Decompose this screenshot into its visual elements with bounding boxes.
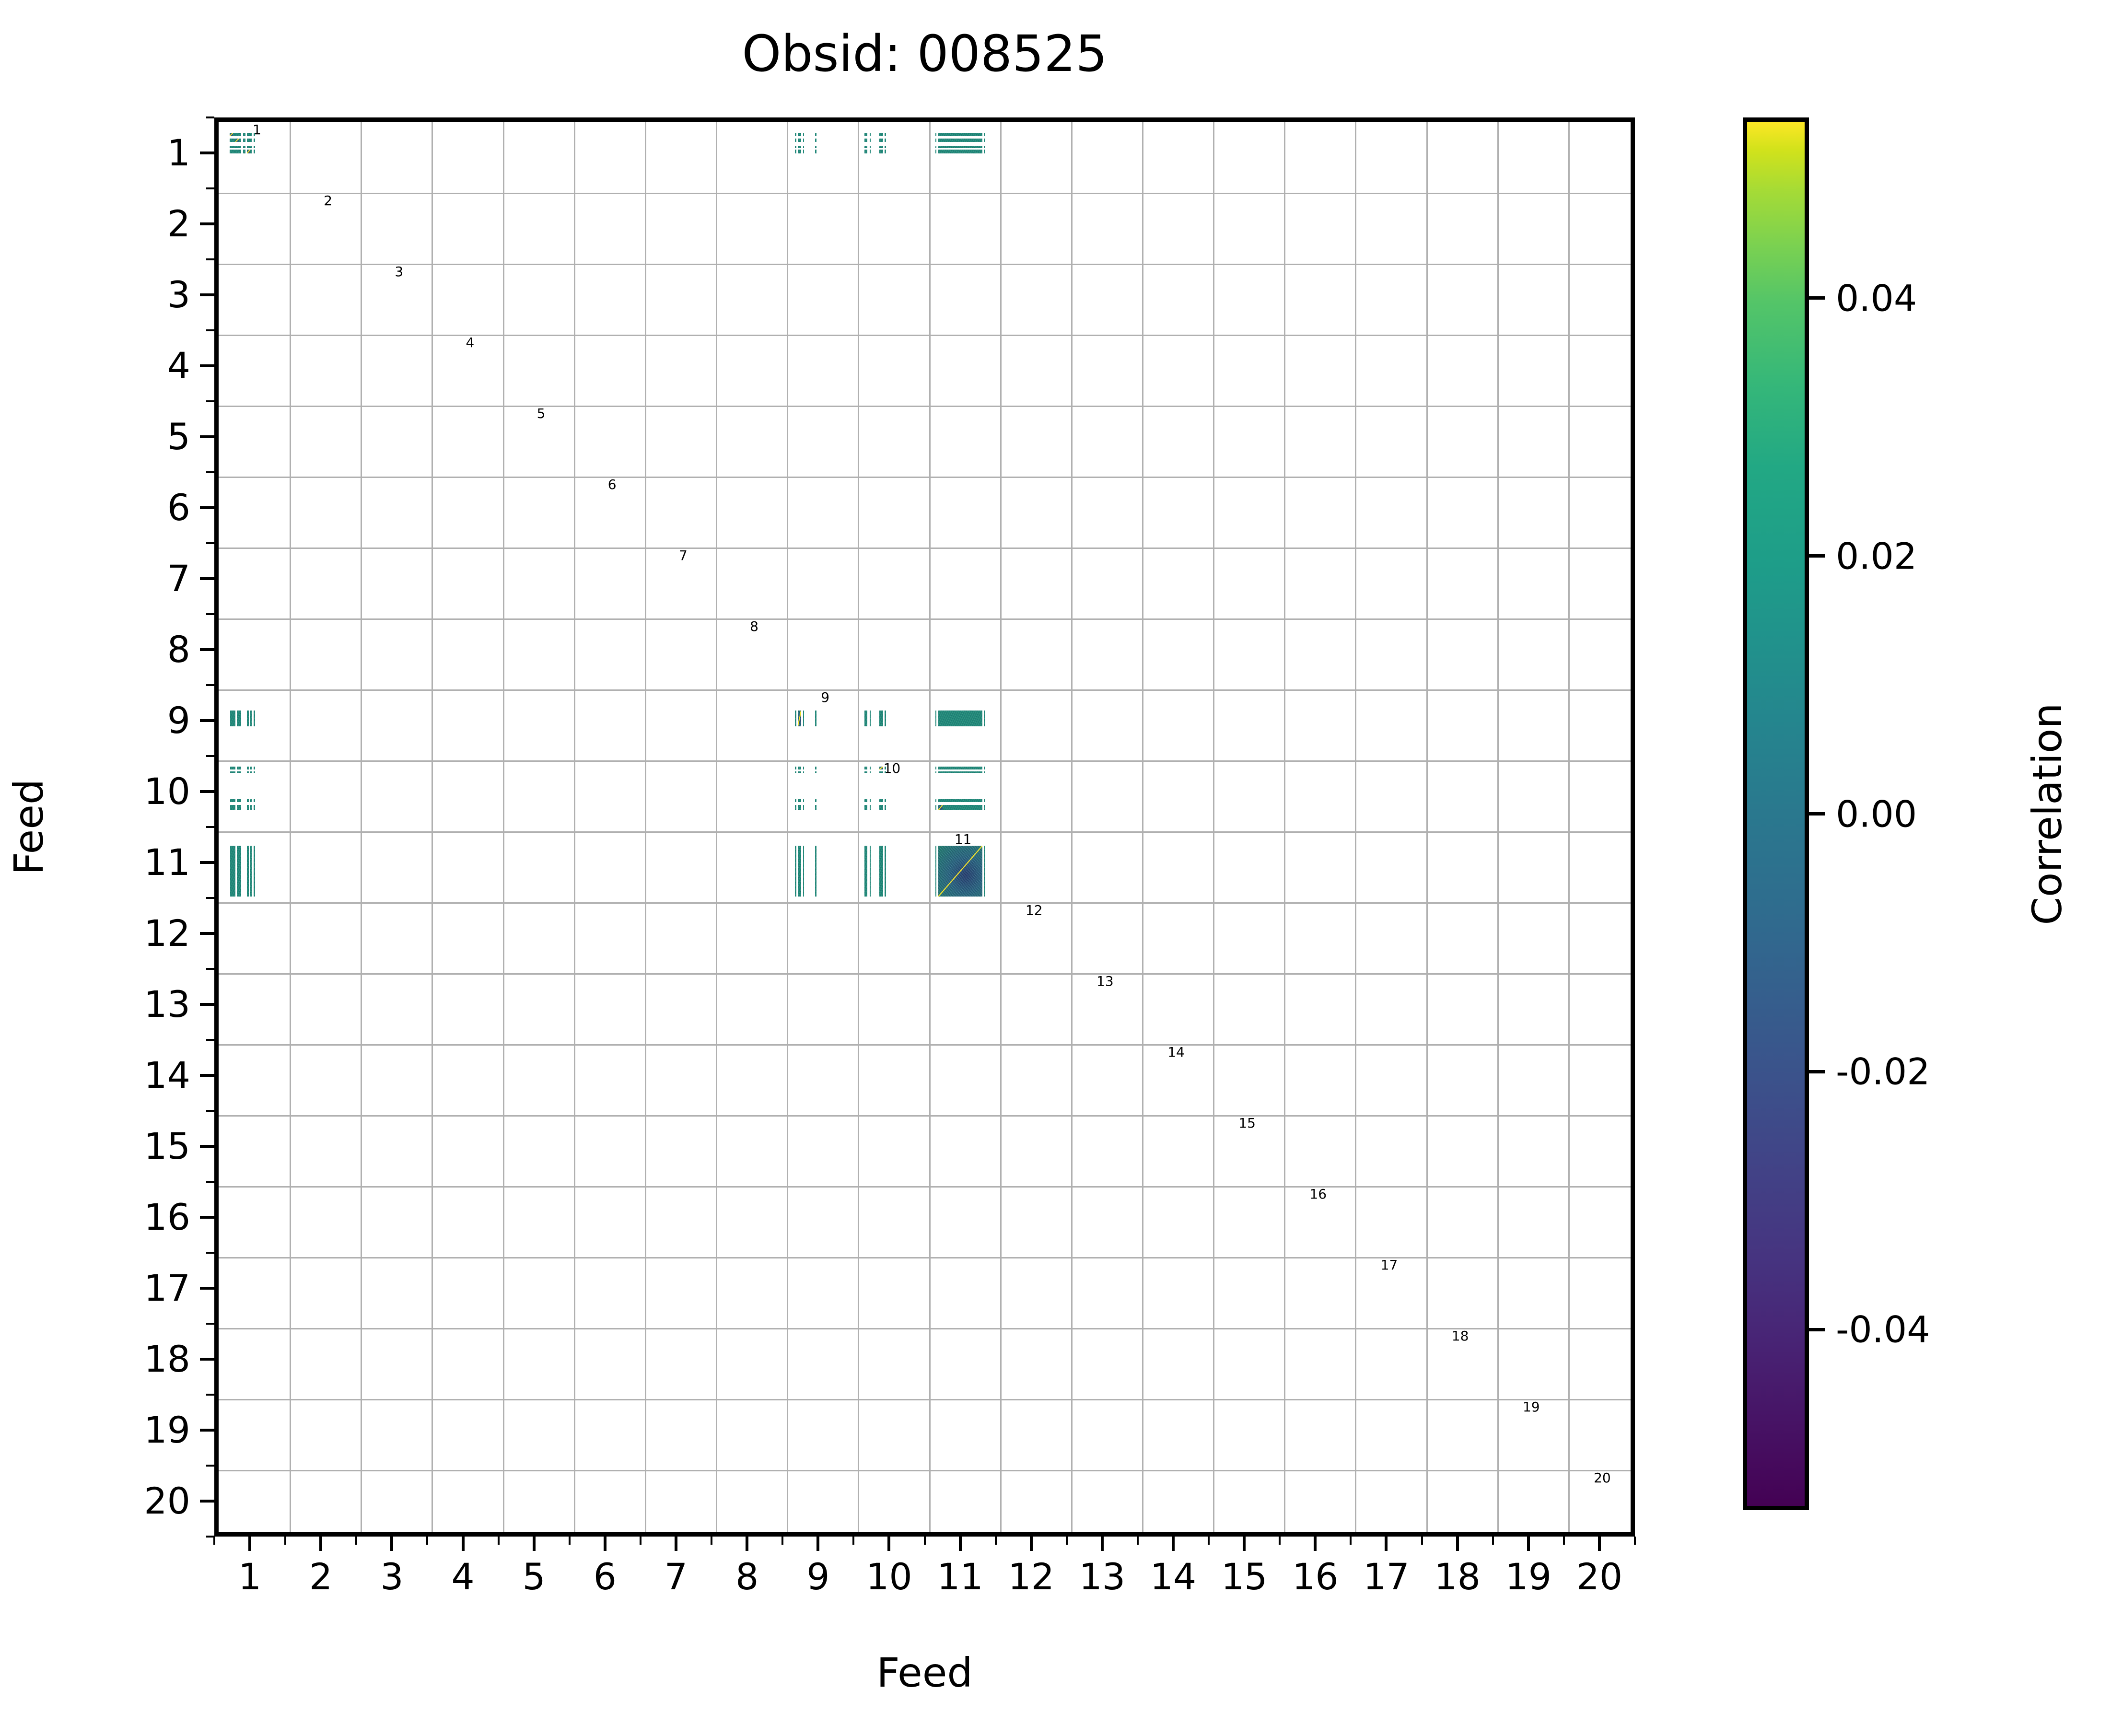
x-tick-mark bbox=[604, 1537, 606, 1551]
x-tick-mark bbox=[248, 1537, 251, 1551]
heatmap-cell-patch bbox=[864, 805, 867, 810]
y-minor-tick-mark bbox=[206, 1465, 214, 1467]
heatmap-cell-patch bbox=[935, 711, 937, 726]
heatmap-cell-patch bbox=[798, 771, 801, 773]
heatmap-cell-patch bbox=[870, 846, 871, 897]
x-tick-mark bbox=[1385, 1537, 1388, 1551]
y-minor-tick-mark bbox=[206, 1039, 214, 1041]
heatmap-cell-patch bbox=[879, 799, 883, 802]
diagonal-block-label: 10 bbox=[884, 762, 901, 775]
heatmap-cell-patch bbox=[815, 150, 816, 153]
y-tick-mark bbox=[200, 861, 214, 864]
heatmap-cell-patch bbox=[803, 133, 805, 136]
grid-line-horizontal bbox=[219, 1044, 1631, 1046]
heatmap-cell-patch bbox=[230, 146, 233, 148]
diagonal-block-label: 15 bbox=[1238, 1117, 1256, 1130]
heatmap-cell-patch bbox=[237, 771, 241, 773]
grid-line-vertical bbox=[1568, 122, 1570, 1532]
heatmap-cell-patch bbox=[885, 767, 886, 769]
heatmap-cell-patch bbox=[247, 146, 250, 148]
y-minor-tick-mark bbox=[206, 258, 214, 260]
colorbar-tick-mark bbox=[1809, 296, 1825, 300]
diagonal-block-label: 4 bbox=[466, 336, 475, 350]
y-tick-mark bbox=[200, 932, 214, 935]
heatmap-cell-patch bbox=[250, 150, 252, 153]
y-tick-label: 5 bbox=[109, 419, 190, 455]
y-minor-tick-mark bbox=[206, 117, 214, 118]
heatmap-cell-patch bbox=[254, 771, 255, 773]
heatmap-cell-patch bbox=[935, 805, 937, 810]
heatmap-cell-patch bbox=[254, 139, 255, 142]
heatmap-cell-patch bbox=[254, 133, 255, 136]
heatmap-cell-patch bbox=[938, 799, 982, 802]
heatmap-cell-patch bbox=[250, 799, 252, 802]
colorbar-tick-label: 0.00 bbox=[1836, 792, 1917, 835]
heatmap-cell-patch bbox=[250, 133, 252, 136]
y-tick-label: 8 bbox=[109, 631, 190, 668]
heatmap-cell-patch bbox=[885, 799, 886, 802]
grid-line-vertical bbox=[929, 122, 931, 1532]
x-tick-label: 19 bbox=[1505, 1559, 1551, 1595]
heatmap-cell-patch bbox=[815, 146, 816, 148]
x-tick-mark bbox=[533, 1537, 536, 1551]
heatmap-cell-patch bbox=[254, 767, 255, 769]
heatmap-cell-patch bbox=[250, 771, 252, 773]
y-tick-label: 3 bbox=[109, 277, 190, 313]
heatmap-cell-patch bbox=[938, 139, 982, 142]
heatmap-cell-patch bbox=[798, 805, 801, 810]
grid-line-vertical bbox=[645, 122, 646, 1532]
grid-line-vertical bbox=[290, 122, 291, 1532]
grid-line-vertical bbox=[1142, 122, 1143, 1532]
heatmap-cell-patch bbox=[815, 846, 816, 897]
grid-line-horizontal bbox=[219, 1257, 1631, 1258]
heatmap-cell-patch bbox=[984, 846, 985, 897]
colorbar-label: Correlation bbox=[2024, 703, 2071, 925]
heatmap-cell-patch bbox=[815, 771, 816, 773]
y-minor-tick-mark bbox=[206, 1394, 214, 1396]
y-minor-tick-mark bbox=[206, 187, 214, 189]
y-minor-tick-mark bbox=[206, 1181, 214, 1183]
heatmap-cell-patch bbox=[250, 711, 252, 726]
x-tick-label: 4 bbox=[451, 1559, 474, 1595]
heatmap-cell-patch bbox=[237, 799, 241, 802]
grid-line-horizontal bbox=[219, 1115, 1631, 1117]
heatmap-cell-patch bbox=[864, 150, 867, 153]
heatmap-cell-patch bbox=[870, 767, 871, 769]
diagonal-block-label: 6 bbox=[608, 478, 617, 491]
x-minor-tick-mark bbox=[995, 1537, 997, 1545]
y-tick-mark bbox=[200, 1287, 214, 1290]
heatmap-cell-patch bbox=[935, 846, 937, 897]
colorbar-tick-label: -0.02 bbox=[1836, 1050, 1930, 1093]
autocorrelation-diagonal-block bbox=[235, 139, 239, 142]
heatmap-cell-patch bbox=[935, 799, 937, 802]
y-tick-mark bbox=[200, 364, 214, 367]
x-minor-tick-mark bbox=[1563, 1537, 1565, 1545]
heatmap-cell-patch bbox=[795, 771, 796, 773]
y-axis-label: Feed bbox=[5, 779, 52, 875]
y-tick-mark bbox=[200, 1216, 214, 1219]
heatmap-cell-patch bbox=[870, 805, 871, 810]
heatmap-cell-patch bbox=[879, 133, 883, 136]
heatmap-cell-patch bbox=[879, 771, 883, 773]
y-tick-mark bbox=[200, 1358, 214, 1361]
heatmap-cell-patch bbox=[938, 133, 982, 136]
y-minor-tick-mark bbox=[206, 826, 214, 828]
x-minor-tick-mark bbox=[1350, 1537, 1352, 1545]
x-tick-mark bbox=[1527, 1537, 1530, 1551]
diagonal-block-label: 7 bbox=[679, 549, 688, 562]
y-tick-label: 4 bbox=[109, 348, 190, 384]
x-tick-mark bbox=[1030, 1537, 1033, 1551]
heatmap-cell-patch bbox=[815, 139, 816, 142]
x-tick-label: 3 bbox=[380, 1559, 403, 1595]
x-tick-mark bbox=[887, 1537, 890, 1551]
heatmap-cell-patch bbox=[984, 146, 985, 148]
heatmap-cell-patch bbox=[803, 767, 805, 769]
grid-line-vertical bbox=[1497, 122, 1499, 1532]
heatmap-cell-patch bbox=[237, 846, 241, 897]
y-tick-label: 19 bbox=[109, 1412, 190, 1448]
diagonal-block-label: 9 bbox=[821, 691, 829, 704]
heatmap-cell-patch bbox=[230, 767, 235, 769]
heatmap-cell-patch bbox=[247, 133, 250, 136]
diagonal-block-label: 13 bbox=[1096, 975, 1114, 988]
diagonal-block-label: 12 bbox=[1026, 904, 1043, 917]
heatmap-cell-patch bbox=[798, 139, 801, 142]
grid-line-vertical bbox=[574, 122, 575, 1532]
colorbar-tick-mark bbox=[1809, 554, 1825, 558]
x-tick-label: 8 bbox=[735, 1559, 758, 1595]
heatmap-cell-patch bbox=[864, 139, 867, 142]
heatmap-cell-patch bbox=[237, 805, 241, 810]
y-minor-tick-mark bbox=[206, 755, 214, 757]
x-minor-tick-mark bbox=[284, 1537, 286, 1545]
autocorrelation-diagonal-block bbox=[938, 805, 943, 810]
x-tick-mark bbox=[1172, 1537, 1175, 1551]
heatmap-cell-patch bbox=[815, 133, 816, 136]
x-tick-mark bbox=[390, 1537, 393, 1551]
diagonal-block-label: 14 bbox=[1167, 1046, 1185, 1059]
y-tick-mark bbox=[200, 435, 214, 438]
grid-line-vertical bbox=[432, 122, 433, 1532]
heatmap-cell-patch bbox=[870, 150, 871, 153]
grid-line-vertical bbox=[1000, 122, 1002, 1532]
heatmap-cell-patch bbox=[230, 799, 235, 802]
x-tick-mark bbox=[1243, 1537, 1246, 1551]
grid-line-horizontal bbox=[219, 689, 1631, 691]
grid-line-horizontal bbox=[219, 831, 1631, 833]
heatmap-cell-patch bbox=[254, 146, 255, 148]
grid-line-vertical bbox=[1071, 122, 1073, 1532]
grid-line-horizontal bbox=[219, 760, 1631, 762]
x-tick-label: 17 bbox=[1363, 1559, 1410, 1595]
diagonal-block-label: 2 bbox=[324, 194, 332, 208]
grid-line-horizontal bbox=[219, 973, 1631, 975]
heatmap-cell-patch bbox=[864, 771, 867, 773]
heatmap-cell-patch bbox=[798, 133, 801, 136]
heatmap-cell-patch bbox=[235, 133, 239, 136]
heatmap-cell-patch bbox=[938, 805, 982, 810]
autocorrelation-diagonal-block bbox=[230, 133, 233, 136]
y-minor-tick-mark bbox=[206, 329, 214, 331]
heatmap-cell-patch bbox=[879, 150, 883, 153]
correlation-matrix-figure: Obsid: 008525 12345678910111213141516171… bbox=[0, 0, 2111, 1736]
diagonal-block-label: 20 bbox=[1594, 1471, 1611, 1485]
x-minor-tick-mark bbox=[1066, 1537, 1068, 1545]
heatmap-cell-patch bbox=[935, 771, 937, 773]
heatmap-cell-patch bbox=[879, 711, 883, 726]
heatmap-cell-patch bbox=[870, 771, 871, 773]
y-tick-mark bbox=[200, 1429, 214, 1432]
autocorrelation-diagonal-block bbox=[879, 767, 883, 769]
y-tick-label: 13 bbox=[109, 986, 190, 1023]
y-minor-tick-mark bbox=[206, 1252, 214, 1254]
diagonal-block-label: 16 bbox=[1309, 1188, 1327, 1201]
heatmap-cell-patch bbox=[795, 146, 796, 148]
x-minor-tick-mark bbox=[640, 1537, 641, 1545]
heatmap-cell-patch bbox=[250, 805, 252, 810]
heatmap-cell-patch bbox=[803, 146, 805, 148]
heatmap-cell-patch bbox=[254, 805, 255, 810]
heatmap-cell-patch bbox=[803, 711, 805, 726]
y-tick-label: 10 bbox=[109, 773, 190, 810]
y-minor-tick-mark bbox=[206, 968, 214, 970]
heatmap-cell-patch bbox=[935, 139, 937, 142]
heatmap-cell-patch bbox=[864, 799, 867, 802]
heatmap-cell-patch bbox=[230, 805, 235, 810]
y-minor-tick-mark bbox=[206, 613, 214, 615]
heatmap-cell-patch bbox=[885, 133, 886, 136]
x-minor-tick-mark bbox=[1421, 1537, 1423, 1545]
grid-line-vertical bbox=[1355, 122, 1356, 1532]
heatmap-cell-patch bbox=[870, 133, 871, 136]
heatmap-cell-patch bbox=[815, 767, 816, 769]
heatmap-cell-patch bbox=[243, 146, 245, 148]
heatmap-cell-patch bbox=[815, 799, 816, 802]
heatmap-cell-patch bbox=[935, 146, 937, 148]
heatmap-plot-area: 1234567891011121314151617181920 bbox=[219, 122, 1631, 1532]
grid-line-vertical bbox=[1284, 122, 1285, 1532]
heatmap-cell-patch bbox=[230, 846, 235, 897]
autocorrelation-diagonal-block bbox=[247, 150, 250, 153]
y-tick-label: 15 bbox=[109, 1128, 190, 1165]
heatmap-cell-patch bbox=[864, 133, 867, 136]
x-tick-label: 1 bbox=[238, 1559, 261, 1595]
x-tick-mark bbox=[462, 1537, 465, 1551]
heatmap-cell-patch bbox=[984, 139, 985, 142]
y-tick-mark bbox=[200, 719, 214, 722]
heatmap-cell-patch bbox=[879, 846, 883, 897]
heatmap-cell-patch bbox=[870, 799, 871, 802]
grid-line-horizontal bbox=[219, 1328, 1631, 1329]
grid-line-horizontal bbox=[219, 548, 1631, 549]
heatmap-cell-patch bbox=[230, 711, 235, 726]
heatmap-cell-patch bbox=[247, 805, 248, 810]
x-minor-tick-mark bbox=[1279, 1537, 1281, 1545]
heatmap-cell-patch bbox=[247, 139, 250, 142]
y-tick-label: 7 bbox=[109, 560, 190, 597]
heatmap-cell-patch bbox=[984, 805, 985, 810]
heatmap-cell-patch bbox=[247, 846, 248, 897]
heatmap-cell-patch bbox=[243, 133, 245, 136]
y-tick-mark bbox=[200, 1145, 214, 1148]
y-tick-label: 14 bbox=[109, 1057, 190, 1094]
y-tick-mark bbox=[200, 790, 214, 793]
diagonal-block-label: 3 bbox=[395, 265, 403, 279]
heatmap-cell-patch bbox=[938, 150, 982, 153]
heatmap-cell-patch bbox=[815, 711, 816, 726]
x-axis-label: Feed bbox=[214, 1649, 1635, 1696]
heatmap-cell-patch bbox=[815, 805, 816, 810]
heatmap-cell-patch bbox=[879, 139, 883, 142]
heatmap-cell-patch bbox=[938, 767, 982, 769]
heatmap-cell-patch bbox=[938, 146, 982, 148]
x-tick-mark bbox=[1598, 1537, 1601, 1551]
colorbar-tick-mark bbox=[1809, 1328, 1825, 1331]
y-tick-mark bbox=[200, 293, 214, 296]
heatmap-cell-patch bbox=[870, 146, 871, 148]
diagonal-block-label: 17 bbox=[1381, 1258, 1398, 1272]
x-minor-tick-mark bbox=[1492, 1537, 1494, 1545]
y-minor-tick-mark bbox=[206, 897, 214, 899]
heatmap-cell-patch bbox=[864, 711, 867, 726]
grid-line-vertical bbox=[787, 122, 788, 1532]
heatmap-cell-patch bbox=[984, 150, 985, 153]
x-tick-label: 6 bbox=[594, 1559, 617, 1595]
y-minor-tick-mark bbox=[206, 1536, 214, 1538]
heatmap-cell-patch bbox=[254, 846, 255, 897]
x-tick-mark bbox=[1456, 1537, 1459, 1551]
heatmap-cell-patch bbox=[795, 767, 796, 769]
heatmap-cell-patch bbox=[885, 805, 886, 810]
heatmap-cell-patch bbox=[885, 139, 886, 142]
page-title: Obsid: 008525 bbox=[214, 29, 1635, 79]
diagonal-block-label: 11 bbox=[955, 833, 972, 846]
y-tick-label: 18 bbox=[109, 1341, 190, 1377]
grid-line-horizontal bbox=[219, 902, 1631, 904]
heatmap-cell-patch bbox=[795, 150, 796, 153]
heatmap-cell-patch bbox=[803, 150, 805, 153]
grid-line-horizontal bbox=[219, 1186, 1631, 1188]
heatmap-cell-patch bbox=[230, 771, 235, 773]
heatmap-cell-patch bbox=[803, 846, 805, 897]
grid-line-vertical bbox=[858, 122, 859, 1532]
heatmap-cell-patch bbox=[864, 846, 867, 897]
heatmap-cell-patch bbox=[935, 150, 937, 153]
x-tick-label: 20 bbox=[1576, 1559, 1623, 1595]
grid-line-horizontal bbox=[219, 1399, 1631, 1400]
heatmap-cell-patch bbox=[984, 133, 985, 136]
heatmap-cell-patch bbox=[235, 146, 239, 148]
grid-line-vertical bbox=[1213, 122, 1214, 1532]
x-minor-tick-mark bbox=[1208, 1537, 1210, 1545]
colorbar-tick-mark bbox=[1809, 812, 1825, 816]
heatmap-cell-patch bbox=[795, 799, 796, 802]
diagonal-block-label: 5 bbox=[537, 407, 546, 420]
x-minor-tick-mark bbox=[213, 1537, 215, 1545]
y-tick-label: 17 bbox=[109, 1270, 190, 1306]
heatmap-cell-patch bbox=[798, 767, 801, 769]
heatmap-cell-patch bbox=[795, 805, 796, 810]
heatmap-cell-patch bbox=[795, 133, 796, 136]
y-tick-mark bbox=[200, 151, 214, 154]
heatmap-cell-patch bbox=[250, 846, 252, 897]
heatmap-cell-patch bbox=[984, 767, 985, 769]
heatmap-cell-patch bbox=[795, 139, 796, 142]
y-tick-label: 6 bbox=[109, 489, 190, 526]
grid-line-horizontal bbox=[219, 1470, 1631, 1471]
x-tick-label: 12 bbox=[1008, 1559, 1054, 1595]
heatmap-cell-patch bbox=[243, 150, 245, 153]
heatmap-cell-patch bbox=[935, 767, 937, 769]
heatmap-cell-patch bbox=[938, 771, 982, 773]
heatmap-cell-patch bbox=[798, 799, 801, 802]
heatmap-cell-patch bbox=[798, 846, 801, 897]
colorbar bbox=[1743, 117, 1809, 1510]
heatmap-cell-patch bbox=[885, 771, 886, 773]
x-minor-tick-mark bbox=[924, 1537, 926, 1545]
heatmap-cell-patch bbox=[795, 846, 796, 897]
heatmap-cell-patch bbox=[254, 711, 255, 726]
heatmap-cell-patch bbox=[803, 139, 805, 142]
heatmap-cell-patch bbox=[230, 139, 233, 142]
x-tick-label: 18 bbox=[1434, 1559, 1481, 1595]
y-tick-mark bbox=[200, 506, 214, 509]
grid-line-horizontal bbox=[219, 406, 1631, 407]
x-tick-label: 7 bbox=[665, 1559, 688, 1595]
y-minor-tick-mark bbox=[206, 684, 214, 686]
heatmap-cell-patch bbox=[254, 150, 255, 153]
y-tick-mark bbox=[200, 1003, 214, 1006]
grid-line-horizontal bbox=[219, 477, 1631, 478]
heatmap-cell-patch bbox=[938, 711, 982, 726]
heatmap-cell-patch bbox=[803, 771, 805, 773]
y-tick-mark bbox=[200, 222, 214, 225]
heatmap-cell-patch bbox=[250, 146, 252, 148]
x-minor-tick-mark bbox=[569, 1537, 571, 1545]
grid-line-horizontal bbox=[219, 618, 1631, 620]
y-tick-label: 16 bbox=[109, 1199, 190, 1235]
y-minor-tick-mark bbox=[206, 471, 214, 473]
heatmap-cell-patch bbox=[803, 799, 805, 802]
y-tick-mark bbox=[200, 648, 214, 651]
y-minor-tick-mark bbox=[206, 1110, 214, 1112]
y-minor-tick-mark bbox=[206, 400, 214, 402]
y-minor-tick-mark bbox=[206, 542, 214, 544]
grid-line-vertical bbox=[1426, 122, 1428, 1532]
x-minor-tick-mark bbox=[781, 1537, 783, 1545]
grid-line-horizontal bbox=[219, 264, 1631, 265]
x-tick-mark bbox=[1101, 1537, 1104, 1551]
x-minor-tick-mark bbox=[1634, 1537, 1636, 1545]
x-tick-label: 10 bbox=[866, 1559, 912, 1595]
x-tick-mark bbox=[319, 1537, 322, 1551]
autocorrelation-diagonal-block bbox=[938, 846, 982, 897]
heatmap-cell-patch bbox=[870, 711, 871, 726]
heatmap-cell-patch bbox=[885, 150, 886, 153]
y-tick-mark bbox=[200, 1500, 214, 1503]
y-tick-mark bbox=[200, 1074, 214, 1077]
x-tick-label: 11 bbox=[937, 1559, 983, 1595]
x-tick-mark bbox=[959, 1537, 962, 1551]
heatmap-cell-patch bbox=[237, 767, 241, 769]
x-tick-label: 5 bbox=[522, 1559, 545, 1595]
x-minor-tick-mark bbox=[426, 1537, 428, 1545]
heatmap-cell-patch bbox=[247, 711, 248, 726]
colorbar-tick-label: 0.04 bbox=[1836, 277, 1917, 319]
